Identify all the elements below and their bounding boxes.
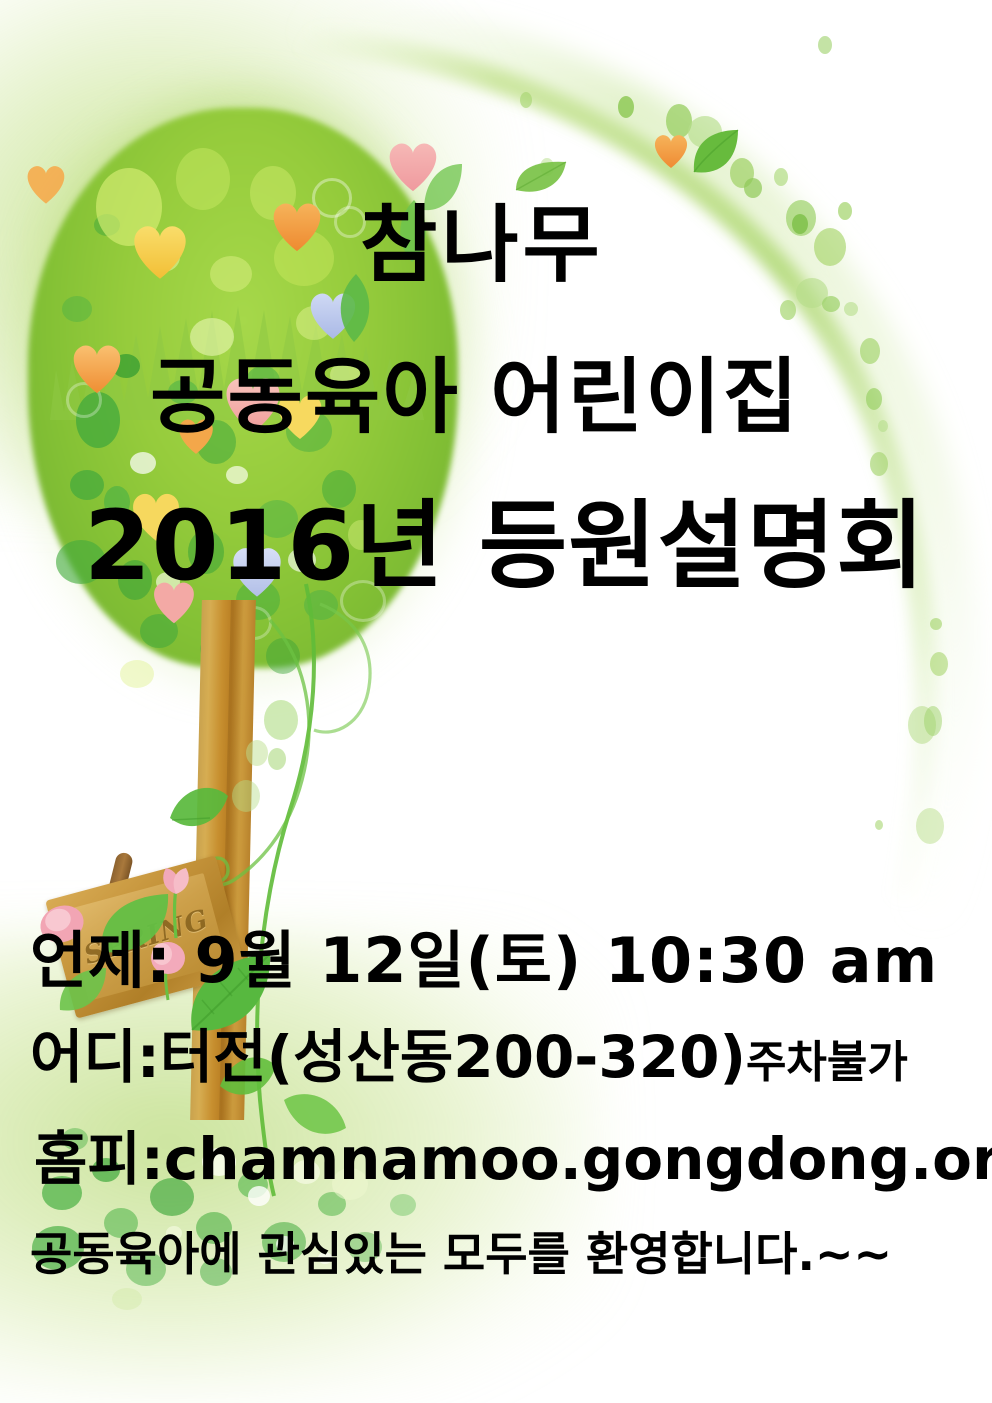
bokeh-dot-icon <box>232 780 260 812</box>
detail-welcome-message: 공동육아에 관심있는 모두를 환영합니다.~~ <box>30 1218 892 1284</box>
bokeh-dot-icon <box>792 214 808 234</box>
bokeh-dot-icon <box>780 300 796 320</box>
page-title-line-1: 참나무 <box>360 178 604 299</box>
bokeh-dot-icon <box>878 420 888 432</box>
detail-homepage: 홈피:chamnamoo.gongdong.or.kr <box>34 1112 992 1196</box>
detail-where-note: 주차불가 <box>746 1037 908 1088</box>
bokeh-dot-icon <box>176 148 230 210</box>
bokeh-dot-icon <box>390 1194 416 1216</box>
bokeh-dot-icon <box>930 652 948 676</box>
bokeh-dot-icon <box>838 202 852 220</box>
bokeh-dot-icon <box>866 388 882 410</box>
bokeh-dot-icon <box>822 296 840 312</box>
detail-where-main: 터전(성산동200-320) <box>160 1023 746 1091</box>
bokeh-dot-icon <box>875 820 883 830</box>
detail-where: 어디:터전(성산동200-320)주차불가 <box>30 1010 908 1094</box>
bokeh-dot-icon <box>264 700 298 740</box>
bokeh-dot-icon <box>818 36 832 54</box>
bokeh-dot-icon <box>774 168 788 186</box>
leaf-icon <box>686 124 746 184</box>
heart-icon <box>66 338 128 396</box>
bokeh-dot-icon <box>618 96 634 118</box>
bokeh-dot-icon <box>916 808 944 844</box>
bokeh-dot-icon <box>744 178 762 198</box>
detail-when: 언제: 9월 12일(토) 10:30 am <box>30 910 938 1000</box>
page-title-line-3: 2016년 등원설명회 <box>84 468 926 607</box>
bokeh-dot-icon <box>860 338 880 364</box>
bokeh-dot-icon <box>520 92 532 108</box>
bokeh-dot-icon <box>268 748 286 770</box>
heart-icon <box>266 196 328 254</box>
bokeh-dot-icon <box>62 296 92 322</box>
bokeh-dot-icon <box>930 618 942 630</box>
heart-icon <box>650 130 692 170</box>
bokeh-dot-icon <box>210 256 252 292</box>
detail-where-label: 어디: <box>30 1023 160 1091</box>
bokeh-dot-icon <box>844 302 858 316</box>
heart-icon <box>22 160 70 206</box>
heart-icon <box>126 218 194 282</box>
bokeh-dot-icon <box>246 740 268 766</box>
bokeh-dot-icon <box>924 706 942 736</box>
bokeh-dot-icon <box>814 228 846 266</box>
page-title-line-2: 공동육아 어린이집 <box>150 330 800 449</box>
bokeh-dot-icon <box>112 1288 142 1310</box>
poster-canvas: SPRING <box>0 0 992 1403</box>
